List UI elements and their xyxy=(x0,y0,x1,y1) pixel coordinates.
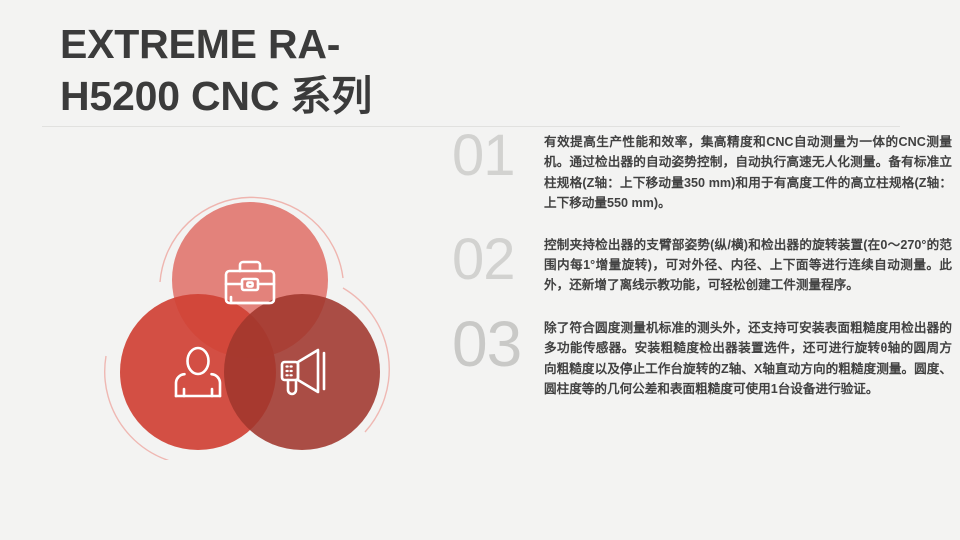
feature-index-02: 02 xyxy=(452,232,544,287)
page-title: EXTREME RA- H5200 CNC 系列 xyxy=(60,18,480,123)
title-block: EXTREME RA- H5200 CNC 系列 xyxy=(60,18,480,123)
slide-canvas: EXTREME RA- H5200 CNC 系列 xyxy=(0,0,960,540)
feature-item-02: 02 控制夹持检出器的支臂部姿势(纵/横)和检出器的旋转装置(在0～270°的范… xyxy=(452,232,952,296)
feature-item-03: 03 除了符合圆度测量机标准的测头外，还支持可安装表面粗糙度用检出器的多功能传感… xyxy=(452,314,952,400)
feature-text-03: 除了符合圆度测量机标准的测头外，还支持可安装表面粗糙度用检出器的多功能传感器。安… xyxy=(544,314,952,400)
three-circle-venn-diagram xyxy=(100,160,400,460)
feature-text-02: 控制夹持检出器的支臂部姿势(纵/横)和检出器的旋转装置(在0～270°的范围内每… xyxy=(544,232,952,296)
feature-index-03: 03 xyxy=(452,314,544,375)
feature-text-01: 有效提高生产性能和效率，集高精度和CNC自动测量为一体的CNC测量机。通过检出器… xyxy=(544,128,952,214)
feature-list: 01 有效提高生产性能和效率，集高精度和CNC自动测量为一体的CNC测量机。通过… xyxy=(452,128,952,417)
feature-item-01: 01 有效提高生产性能和效率，集高精度和CNC自动测量为一体的CNC测量机。通过… xyxy=(452,128,952,214)
feature-index-01: 01 xyxy=(452,128,544,183)
megaphone-circle xyxy=(224,294,380,450)
